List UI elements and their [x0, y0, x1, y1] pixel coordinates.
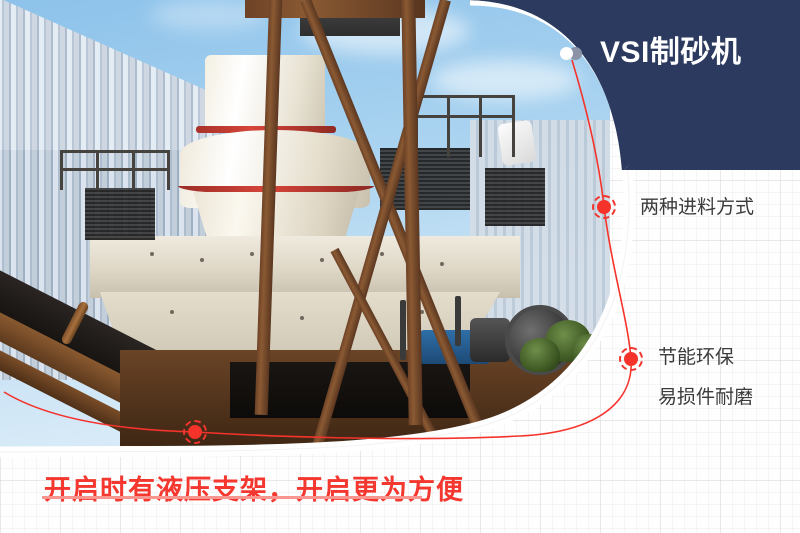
shrub [520, 338, 560, 372]
marker-dot-icon [624, 352, 638, 366]
marker-dot-icon [597, 200, 611, 214]
infographic-canvas: VSI制砂机 两种进料方式 节能环保 易损件耐磨 开启时有液压支架，开启更为方便 [0, 0, 800, 533]
bolt [200, 258, 204, 262]
machine-chassis-beam [90, 236, 520, 298]
title-banner: VSI制砂机 [0, 0, 800, 160]
drive-housing [470, 318, 510, 362]
vent-grate [485, 168, 545, 226]
annotation-label-feeding: 两种进料方式 [640, 198, 754, 217]
bolt [250, 252, 254, 256]
annotation-label-energy: 节能环保 [658, 348, 734, 367]
bolt [170, 310, 174, 314]
annotation-label-wear: 易损件耐磨 [658, 388, 753, 407]
bolt [440, 262, 444, 266]
banner-title-group: VSI制砂机 [560, 38, 741, 68]
page-title: VSI制砂机 [600, 38, 741, 68]
marker-feeding[interactable] [592, 195, 616, 219]
bolt [320, 258, 324, 262]
marker-caption[interactable] [183, 420, 207, 444]
pipe [400, 300, 406, 360]
marker-energy[interactable] [619, 347, 643, 371]
bolt [300, 316, 304, 320]
vent-grate [85, 188, 155, 240]
caption-underline [42, 496, 422, 499]
double-dot-bullet-icon [560, 46, 586, 60]
machine-skirt [186, 192, 366, 240]
bottom-caption: 开启时有液压支架，开启更为方便 [44, 468, 464, 507]
bolt [150, 252, 154, 256]
bolt [380, 252, 384, 256]
pipe [455, 296, 461, 346]
marker-dot-icon [188, 425, 202, 439]
